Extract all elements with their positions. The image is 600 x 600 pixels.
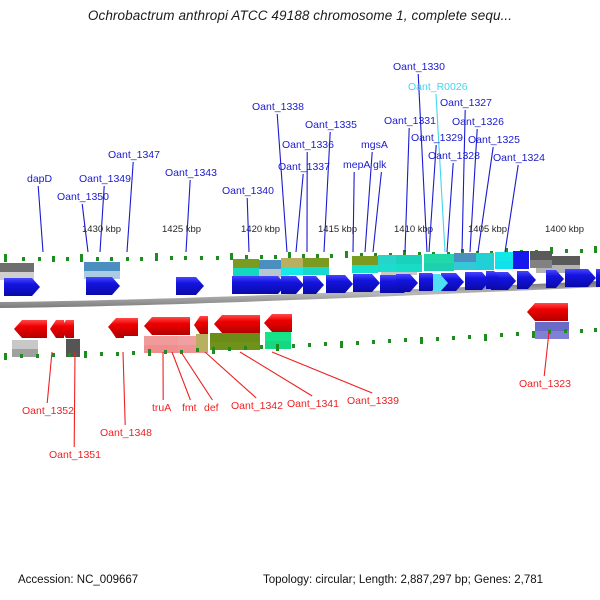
gene-label-oant_1348[interactable]: Oant_1348 bbox=[100, 427, 152, 439]
feature-box bbox=[0, 263, 34, 280]
gene-label-oant_1327[interactable]: Oant_1327 bbox=[440, 97, 492, 109]
leader-line bbox=[74, 352, 75, 447]
feature-box bbox=[513, 251, 529, 269]
gene-arrow bbox=[86, 277, 120, 295]
feature-box bbox=[495, 252, 513, 269]
gene-label-def[interactable]: def bbox=[204, 402, 219, 414]
gene-label-oant_1325[interactable]: Oant_1325 bbox=[468, 134, 520, 146]
gene-arrow bbox=[176, 277, 204, 295]
leader-line bbox=[47, 352, 52, 403]
gene-label-oant_1330[interactable]: Oant_1330 bbox=[393, 61, 445, 73]
feature-box bbox=[424, 254, 454, 271]
feature-box bbox=[535, 322, 569, 339]
feature-box bbox=[281, 258, 303, 275]
gene-arrow bbox=[596, 269, 600, 287]
gene-label-oant_1324[interactable]: Oant_1324 bbox=[493, 152, 545, 164]
gene-label-mepa[interactable]: mepA bbox=[343, 159, 370, 171]
feature-box bbox=[303, 258, 329, 275]
leader-line bbox=[272, 352, 372, 393]
leader-line bbox=[240, 352, 312, 396]
gene-label-glk[interactable]: glk bbox=[373, 159, 387, 171]
scale-tick-label: 1420 kbp bbox=[241, 224, 280, 235]
gene-label-oant_1340[interactable]: Oant_1340 bbox=[222, 185, 274, 197]
gene-arrow bbox=[194, 316, 208, 334]
leader-line bbox=[436, 94, 445, 252]
gene-label-dapd[interactable]: dapD bbox=[27, 173, 53, 185]
gene-label-oant_1342[interactable]: Oant_1342 bbox=[231, 400, 283, 412]
gene-label-oant_1326[interactable]: Oant_1326 bbox=[452, 116, 504, 128]
gene-label-oant_1341[interactable]: Oant_1341 bbox=[287, 398, 339, 410]
gene-label-oant_1331[interactable]: Oant_1331 bbox=[384, 115, 436, 127]
genome-map-canvas[interactable]: 1430 kbp1425 kbp1420 kbp1415 kbp1410 kbp… bbox=[0, 0, 600, 600]
feature-box bbox=[378, 255, 396, 272]
top-gene-labels[interactable]: dapDOant_1350Oant_1349Oant_1347Oant_1343… bbox=[27, 61, 545, 203]
gene-label-oant_1336[interactable]: Oant_1336 bbox=[282, 139, 334, 151]
feature-box bbox=[396, 255, 422, 272]
gene-arrow bbox=[326, 275, 353, 293]
feature-box bbox=[352, 256, 378, 273]
gene-arrow bbox=[353, 274, 380, 292]
lower-tick-row bbox=[4, 328, 597, 360]
leader-line bbox=[205, 352, 256, 398]
feature-box bbox=[84, 262, 120, 279]
leader-line bbox=[353, 172, 354, 252]
gene-label-oant_1351[interactable]: Oant_1351 bbox=[49, 449, 101, 461]
gene-arrow bbox=[264, 314, 292, 332]
gene-label-oant_1349[interactable]: Oant_1349 bbox=[79, 173, 131, 185]
leader-line bbox=[478, 147, 493, 252]
gene-label-oant_1343[interactable]: Oant_1343 bbox=[165, 167, 217, 179]
gene-label-oant_1329[interactable]: Oant_1329 bbox=[411, 132, 463, 144]
gene-label-oant_1338[interactable]: Oant_1338 bbox=[252, 101, 304, 113]
scale-tick-label: 1405 kbp bbox=[468, 224, 507, 235]
gene-label-oant_1350[interactable]: Oant_1350 bbox=[57, 191, 109, 203]
genome-map-viewer: Ochrobactrum anthropi ATCC 49188 chromos… bbox=[0, 0, 600, 600]
leader-line bbox=[181, 352, 212, 400]
leader-line bbox=[123, 352, 125, 425]
feature-box bbox=[12, 340, 38, 357]
scale-tick-label: 1410 kbp bbox=[394, 224, 433, 235]
gene-label-oant_1339[interactable]: Oant_1339 bbox=[347, 395, 399, 407]
scale-tick-label: 1425 kbp bbox=[162, 224, 201, 235]
feature-box bbox=[233, 259, 259, 276]
gene-label-oant_1352[interactable]: Oant_1352 bbox=[22, 405, 74, 417]
leader-line bbox=[296, 174, 303, 252]
gene-arrow bbox=[108, 318, 138, 336]
genome-summary-text: Topology: circular; Length: 2,887,297 bp… bbox=[263, 574, 543, 586]
gene-arrow bbox=[527, 303, 568, 321]
gene-label-oant_r0026[interactable]: Oant_R0026 bbox=[408, 81, 468, 93]
gene-arrow bbox=[281, 276, 304, 294]
feature-box bbox=[476, 253, 494, 270]
scale-tick-label: 1415 kbp bbox=[318, 224, 357, 235]
leader-line bbox=[505, 165, 518, 252]
feature-box bbox=[530, 251, 552, 268]
gene-label-oant_1347[interactable]: Oant_1347 bbox=[108, 149, 160, 161]
gene-arrow bbox=[303, 276, 324, 294]
gene-label-mgsa[interactable]: mgsA bbox=[361, 139, 388, 151]
gene-label-fmt[interactable]: fmt bbox=[182, 402, 197, 414]
leader-line bbox=[373, 172, 381, 252]
feature-box bbox=[210, 333, 260, 350]
gene-arrow bbox=[4, 278, 40, 296]
leader-line bbox=[38, 186, 43, 252]
gene-label-oant_1337[interactable]: Oant_1337 bbox=[278, 161, 330, 173]
feature-box bbox=[454, 253, 476, 270]
gene-label-oant_1323[interactable]: Oant_1323 bbox=[519, 378, 571, 390]
gene-label-oant_1328[interactable]: Oant_1328 bbox=[428, 150, 480, 162]
leader-line bbox=[172, 352, 190, 400]
leader-line bbox=[447, 163, 453, 252]
leader-line bbox=[186, 180, 190, 252]
bottom-gene-labels[interactable]: Oant_1352Oant_1351Oant_1348truAfmtdefOan… bbox=[22, 378, 571, 461]
gene-arrow bbox=[214, 315, 260, 333]
accession-text: Accession: NC_009667 bbox=[18, 574, 138, 586]
scale-tick-label: 1400 kbp bbox=[545, 224, 584, 235]
gene-label-trua[interactable]: truA bbox=[152, 402, 171, 414]
gene-label-oant_1335[interactable]: Oant_1335 bbox=[305, 119, 357, 131]
gene-arrow bbox=[14, 320, 47, 338]
